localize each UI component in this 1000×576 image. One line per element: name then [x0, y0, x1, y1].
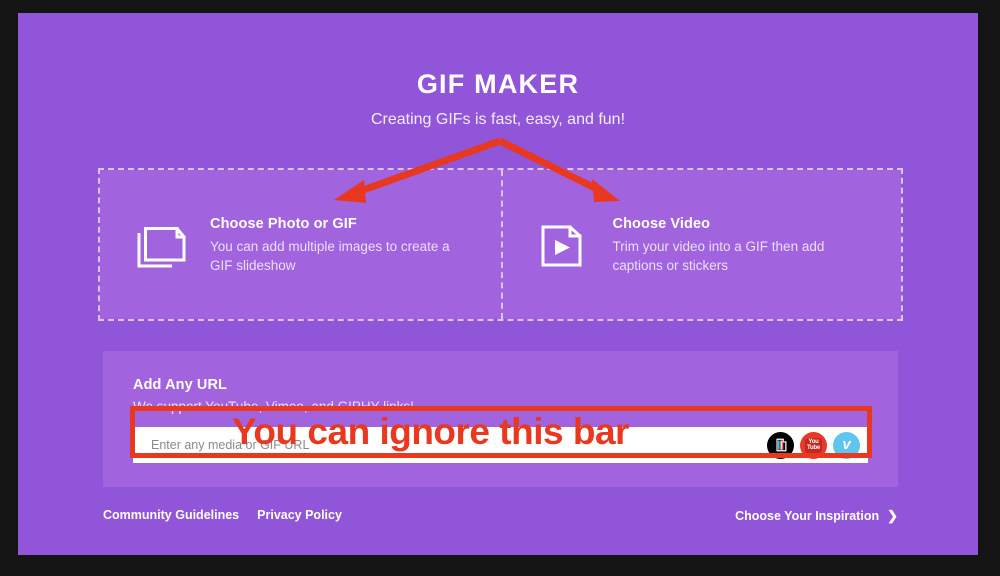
- privacy-policy-link[interactable]: Privacy Policy: [257, 508, 342, 522]
- service-icon-group: You Tube v: [767, 432, 860, 459]
- choose-photo-or-gif-card[interactable]: Choose Photo or GIF You can add multiple…: [100, 170, 501, 319]
- card-description: You can add multiple images to create a …: [210, 237, 455, 275]
- youtube-icon[interactable]: You Tube: [800, 432, 827, 459]
- stacked-photos-icon: [136, 221, 190, 271]
- footer-links: Community Guidelines Privacy Policy: [103, 508, 342, 522]
- upload-choice-group: Choose Photo or GIF You can add multiple…: [98, 168, 903, 321]
- page-footer: Community Guidelines Privacy Policy Choo…: [103, 508, 898, 530]
- card-heading: Choose Video: [613, 216, 858, 232]
- url-panel-subheading: We support YouTube, Vimeo, and GIPHY lin…: [133, 399, 868, 414]
- screenshot-frame: GIF MAKER Creating GIFs is fast, easy, a…: [0, 0, 1000, 576]
- gif-maker-page: GIF MAKER Creating GIFs is fast, easy, a…: [18, 13, 978, 555]
- vimeo-glyph: v: [842, 437, 850, 452]
- community-guidelines-link[interactable]: Community Guidelines: [103, 508, 239, 522]
- choose-photo-text: Choose Photo or GIF You can add multiple…: [210, 214, 455, 275]
- youtube-line2: Tube: [805, 445, 822, 452]
- card-heading: Choose Photo or GIF: [210, 216, 455, 232]
- url-input-row[interactable]: You Tube v: [133, 427, 868, 463]
- video-file-play-icon: [539, 221, 593, 271]
- choose-video-card[interactable]: Choose Video Trim your video into a GIF …: [501, 170, 902, 319]
- url-input[interactable]: [149, 437, 767, 453]
- chevron-right-icon: ❯: [887, 508, 898, 524]
- vimeo-icon[interactable]: v: [833, 432, 860, 459]
- url-panel-heading: Add Any URL: [133, 377, 868, 393]
- page-subtitle: Creating GIFs is fast, easy, and fun!: [18, 111, 978, 129]
- choose-your-inspiration-link[interactable]: Choose Your Inspiration ❯: [735, 508, 898, 524]
- add-any-url-panel: Add Any URL We support YouTube, Vimeo, a…: [103, 351, 898, 487]
- choose-video-text: Choose Video Trim your video into a GIF …: [613, 214, 858, 275]
- youtube-badge: You Tube: [805, 438, 822, 453]
- inspiration-label: Choose Your Inspiration: [735, 509, 879, 523]
- page-title: GIF MAKER: [18, 69, 978, 100]
- giphy-icon[interactable]: [767, 432, 794, 459]
- card-description: Trim your video into a GIF then add capt…: [613, 237, 858, 275]
